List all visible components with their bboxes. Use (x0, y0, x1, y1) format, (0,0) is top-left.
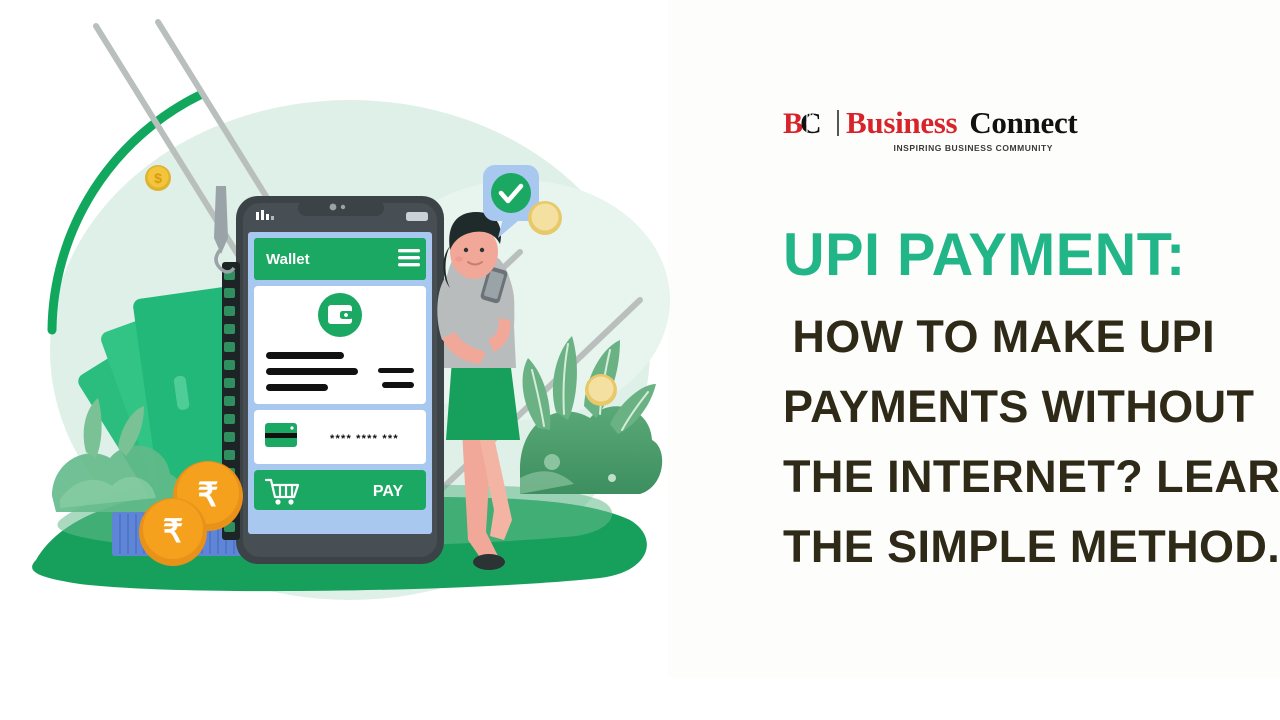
smartphone: Wallet (214, 186, 444, 564)
check-circle-icon (491, 173, 531, 213)
headline-block: UPI PAYMENT: HOW TO MAKE UPI PAYMENTS WI… (783, 224, 1215, 582)
rupee-symbol: ₹ (163, 513, 183, 549)
gold-coin-upper (528, 201, 562, 235)
skirt (446, 360, 520, 440)
hamburger-menu-icon (398, 249, 420, 266)
dollar-coin: $ (145, 165, 171, 191)
poster-canvas: Wallet (0, 0, 1280, 720)
subtitle-line-1: HOW TO MAKE UPI (783, 302, 1215, 372)
masked-card-number: **** **** *** (330, 433, 399, 445)
logo-word-business: Business (846, 107, 957, 138)
logo-tagline: INSPIRING BUSINESS COMMUNITY (783, 143, 1053, 153)
rupee-symbol: ₹ (198, 476, 219, 513)
wallet-icon (318, 293, 362, 337)
rupee-coin-small: ₹ (139, 498, 207, 566)
pay-button-label: PAY (373, 483, 404, 500)
subtitle-line-4: THE SIMPLE METHOD. (783, 512, 1215, 582)
bc-monogram-icon: B C (783, 106, 831, 138)
dollar-symbol: $ (154, 170, 162, 186)
logo-row: B C Business Connect (783, 104, 1243, 138)
svg-text:C: C (800, 107, 822, 138)
subtitle-line-3: THE INTERNET? LEARN (783, 442, 1215, 512)
gold-coin-lower (585, 374, 617, 406)
page-title: UPI PAYMENT: (783, 224, 1198, 286)
shoe (473, 554, 505, 570)
page-subtitle: HOW TO MAKE UPI PAYMENTS WITHOUT THE INT… (783, 302, 1215, 582)
credit-card-icon (265, 423, 297, 447)
logo-word-connect: Connect (969, 107, 1077, 138)
upi-payment-illustration: Wallet (0, 0, 680, 720)
brand-logo[interactable]: B C Business Connect INSPIRING BUSINESS … (783, 104, 1243, 156)
subtitle-line-2: PAYMENTS WITHOUT (783, 372, 1215, 442)
logo-divider (837, 110, 839, 136)
phone-app-title: Wallet (266, 251, 310, 268)
